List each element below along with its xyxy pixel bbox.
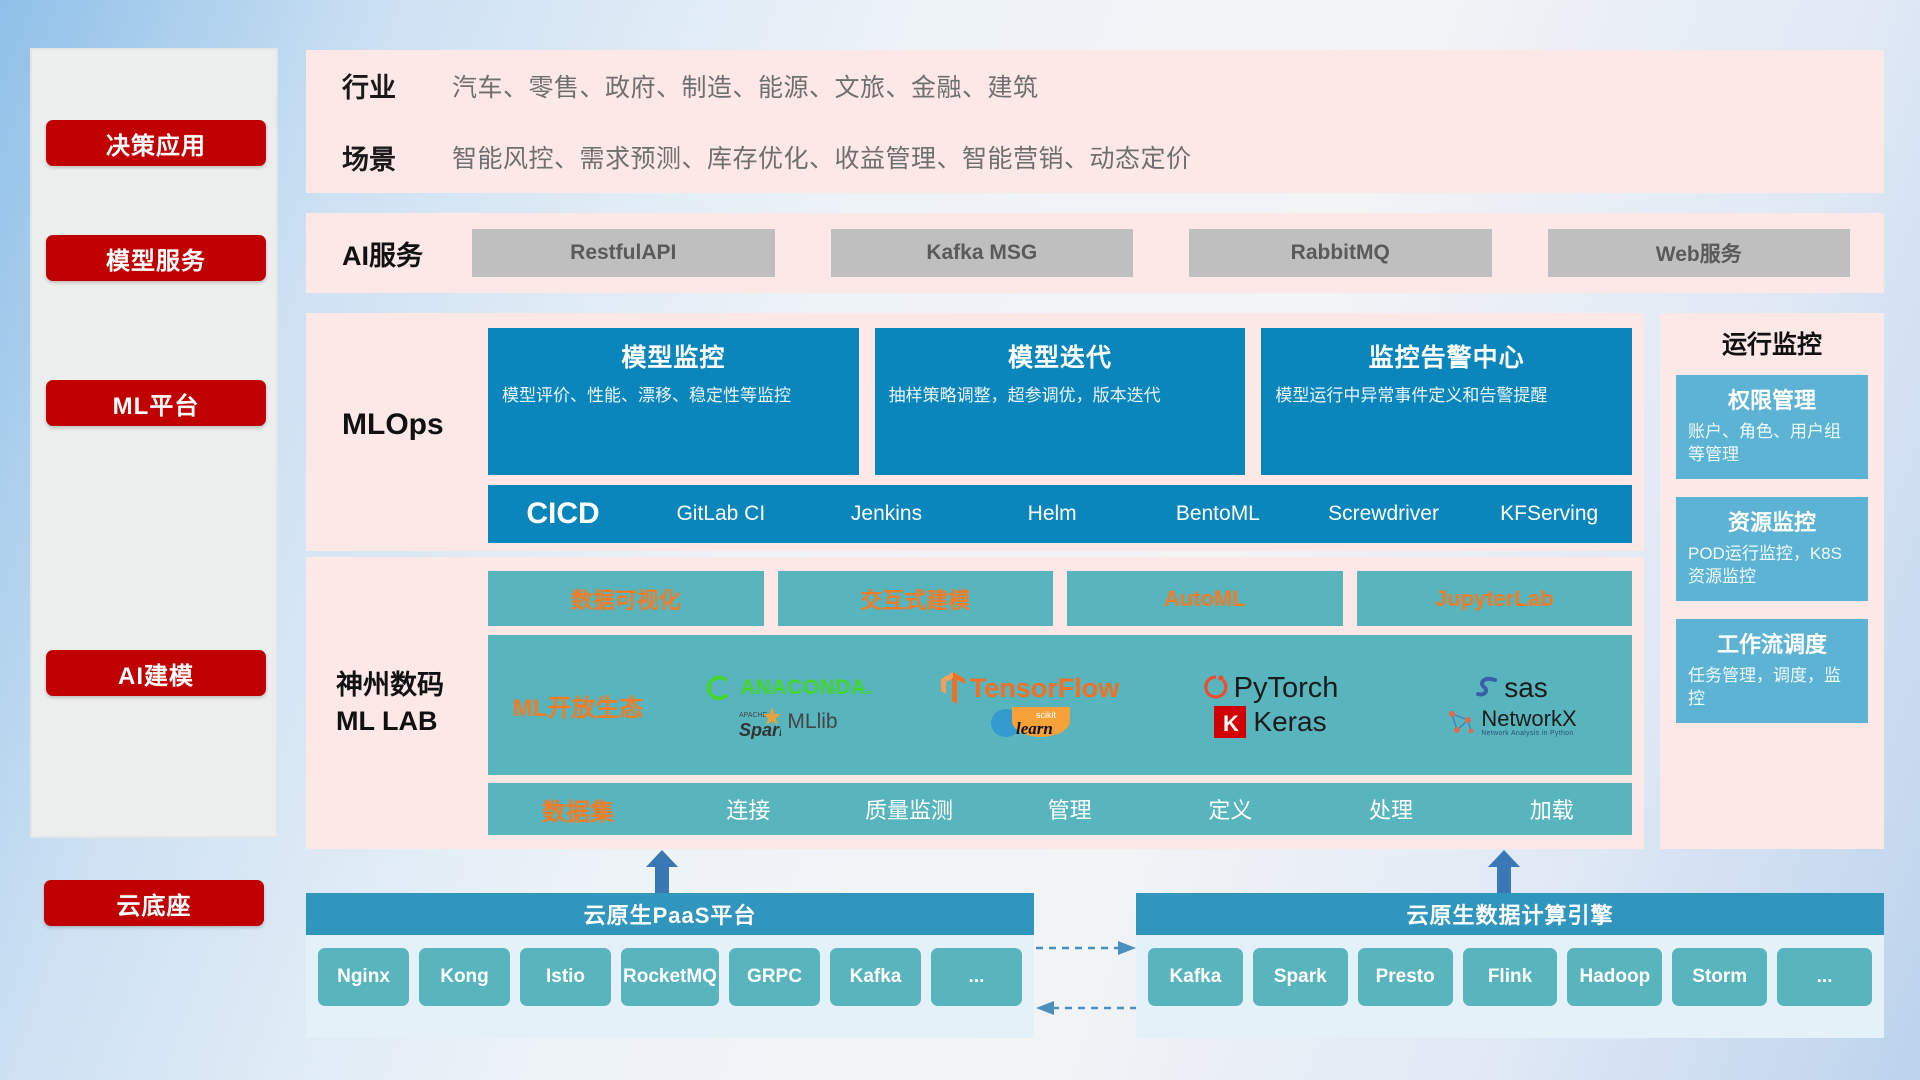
mlops-cards: 模型监控 模型评价、性能、漂移、稳定性等监控 模型迭代 抽样策略调整，超参调优，… xyxy=(488,328,1632,475)
mlops-card-model-monitoring[interactable]: 模型监控 模型评价、性能、漂移、稳定性等监控 xyxy=(488,328,859,475)
sas-icon xyxy=(1475,674,1501,702)
dataset-item-manage[interactable]: 管理 xyxy=(989,793,1150,825)
anaconda-logo: ANACONDA. xyxy=(704,673,873,703)
scikit-learn-logo: scikit learn xyxy=(988,705,1072,739)
ai-service-web[interactable]: Web服务 xyxy=(1548,229,1851,277)
networkx-logo: NetworkX Network Analysis in Python xyxy=(1446,707,1576,737)
anaconda-icon xyxy=(704,673,734,703)
networkx-tagline: Network Analysis in Python xyxy=(1481,730,1576,737)
scenario-row: 场景 智能风控、需求预测、库存优化、收益管理、智能营销、动态定价 xyxy=(306,122,1884,194)
svg-text:APACHE: APACHE xyxy=(739,712,768,719)
card-title: 模型迭代 xyxy=(889,338,1232,374)
industry-scenario-panel: 行业 汽车、零售、政府、制造、能源、文旅、金融、建筑 场景 智能风控、需求预测、… xyxy=(306,50,1884,193)
paas-stack: 云原生PaaS平台 Nginx Kong Istio RocketMQ GRPC… xyxy=(306,893,1034,1038)
tab-interactive-modeling[interactable]: 交互式建模 xyxy=(778,571,1054,626)
card-desc: 抽样策略调整，超参调优，版本迭代 xyxy=(889,384,1232,409)
chip-more-paas[interactable]: ... xyxy=(931,948,1022,1006)
ml-lab-label-line1: 神州数码 xyxy=(336,667,486,703)
ml-ecosystem-row: ML开放生态 ANACONDA. TensorFlow xyxy=(488,635,1632,775)
connector-left xyxy=(1036,1000,1134,1021)
card-desc: 账户、角色、用户组等管理 xyxy=(1688,421,1856,467)
scenario-label: 场景 xyxy=(342,138,452,177)
ai-service-rabbitmq[interactable]: RabbitMQ xyxy=(1189,229,1492,277)
rail-item-model-service[interactable]: 模型服务 xyxy=(46,235,266,281)
rail-item-cloud-base[interactable]: 云底座 xyxy=(44,880,264,926)
dataset-label: 数据集 xyxy=(488,792,668,827)
anaconda-label: ANACONDA. xyxy=(740,676,873,700)
cicd-item-jenkins[interactable]: Jenkins xyxy=(804,503,970,525)
sas-label: sas xyxy=(1504,672,1548,704)
ml-lab-tabs: 数据可视化 交互式建模 AutoML JupyterLab xyxy=(488,571,1632,626)
tab-jupyterlab[interactable]: JupyterLab xyxy=(1357,571,1633,626)
industry-value: 汽车、零售、政府、制造、能源、文旅、金融、建筑 xyxy=(452,68,1039,104)
networkx-label: NetworkX xyxy=(1481,708,1576,730)
industry-row: 行业 汽车、零售、政府、制造、能源、文旅、金融、建筑 xyxy=(306,50,1884,122)
arrow-up-paas xyxy=(644,850,680,896)
cicd-item-helm[interactable]: Helm xyxy=(969,503,1135,525)
mllib-label: MLlib xyxy=(787,710,837,734)
monitor-card-permission[interactable]: 权限管理 账户、角色、用户组等管理 xyxy=(1676,375,1868,479)
tensorflow-label: TensorFlow xyxy=(970,673,1120,704)
card-title: 权限管理 xyxy=(1688,383,1856,415)
card-desc: 模型评价、性能、漂移、稳定性等监控 xyxy=(502,384,845,409)
tensorflow-logo: TensorFlow xyxy=(940,671,1120,705)
chip-kong[interactable]: Kong xyxy=(419,948,510,1006)
spark-icon: APACHE Spark xyxy=(739,705,781,739)
arrow-up-compute xyxy=(1486,850,1522,896)
scikit-learn-icon: scikit learn xyxy=(1010,705,1072,739)
rail-item-ai-modeling[interactable]: AI建模 xyxy=(46,650,266,696)
ai-service-restfulapi[interactable]: RestfulAPI xyxy=(472,229,775,277)
compute-stack: 云原生数据计算引擎 Kafka Spark Presto Flink Hadoo… xyxy=(1136,893,1884,1038)
mlops-card-alert-center[interactable]: 监控告警中心 模型运行中异常事件定义和告警提醒 xyxy=(1261,328,1632,475)
chip-hadoop[interactable]: Hadoop xyxy=(1567,948,1662,1006)
chip-spark[interactable]: Spark xyxy=(1253,948,1348,1006)
dataset-item-load[interactable]: 加载 xyxy=(1471,793,1632,825)
pytorch-label: PyTorch xyxy=(1234,672,1339,705)
diagram-canvas: 决策应用 模型服务 ML平台 AI建模 云底座 行业 汽车、零售、政府、制造、能… xyxy=(0,0,1920,1080)
paas-chips: Nginx Kong Istio RocketMQ GRPC Kafka ... xyxy=(306,935,1034,1019)
chip-flink[interactable]: Flink xyxy=(1463,948,1558,1006)
connector-right xyxy=(1036,940,1134,961)
networkx-icon xyxy=(1446,707,1476,737)
ai-service-label: AI服务 xyxy=(342,234,472,273)
card-title: 资源监控 xyxy=(1688,505,1856,537)
chip-kafka-compute[interactable]: Kafka xyxy=(1148,948,1243,1006)
scenario-value: 智能风控、需求预测、库存优化、收益管理、智能营销、动态定价 xyxy=(452,139,1192,175)
keras-logo: K Keras xyxy=(1214,706,1326,738)
dataset-item-quality-monitor[interactable]: 质量监测 xyxy=(829,793,990,825)
ml-lab-panel: 神州数码 ML LAB 数据可视化 交互式建模 AutoML JupyterLa… xyxy=(306,557,1644,849)
card-title: 监控告警中心 xyxy=(1275,338,1618,374)
dataset-items: 连接 质量监测 管理 定义 处理 加载 xyxy=(668,793,1632,825)
runtime-monitor-title: 运行监控 xyxy=(1660,313,1884,375)
tab-data-visualization[interactable]: 数据可视化 xyxy=(488,571,764,626)
paas-title: 云原生PaaS平台 xyxy=(306,893,1034,935)
cicd-item-screwdriver[interactable]: Screwdriver xyxy=(1301,503,1467,525)
cicd-title: CICD xyxy=(488,497,638,531)
runtime-monitor-panel: 运行监控 权限管理 账户、角色、用户组等管理 资源监控 POD运行监控，K8S资… xyxy=(1660,313,1884,849)
card-title: 工作流调度 xyxy=(1688,627,1856,659)
card-desc: 任务管理，调度，监控 xyxy=(1688,665,1856,711)
spark-mllib-logo: APACHE Spark MLlib xyxy=(739,705,837,739)
sas-logo: sas xyxy=(1475,672,1548,704)
ml-ecosystem-label: ML开放生态 xyxy=(488,688,668,723)
cicd-item-bentoml[interactable]: BentoML xyxy=(1135,503,1301,525)
chip-kafka[interactable]: Kafka xyxy=(830,948,921,1006)
chip-istio[interactable]: Istio xyxy=(520,948,611,1006)
cicd-row: CICD GitLab CI Jenkins Helm BentoML Scre… xyxy=(488,485,1632,543)
compute-title: 云原生数据计算引擎 xyxy=(1136,893,1884,935)
tab-automl[interactable]: AutoML xyxy=(1067,571,1343,626)
svg-text:K: K xyxy=(1223,711,1239,736)
ai-service-kafka-msg[interactable]: Kafka MSG xyxy=(831,229,1134,277)
compute-chips: Kafka Spark Presto Flink Hadoop Storm ..… xyxy=(1136,935,1884,1019)
pytorch-icon xyxy=(1203,673,1229,703)
card-title: 模型监控 xyxy=(502,338,845,374)
mlops-card-model-iteration[interactable]: 模型迭代 抽样策略调整，超参调优，版本迭代 xyxy=(875,328,1246,475)
cicd-item-kfserving[interactable]: KFServing xyxy=(1466,503,1632,525)
keras-icon: K xyxy=(1214,706,1246,738)
chip-grpc[interactable]: GRPC xyxy=(729,948,820,1006)
ml-ecosystem-logos: ANACONDA. TensorFlow PyTorch xyxy=(668,671,1632,739)
card-desc: 模型运行中异常事件定义和告警提醒 xyxy=(1275,384,1618,409)
tensorflow-icon xyxy=(940,671,966,705)
chip-more-compute[interactable]: ... xyxy=(1777,948,1872,1006)
ai-service-panel: AI服务 RestfulAPI Kafka MSG RabbitMQ Web服务 xyxy=(306,213,1884,293)
pytorch-logo: PyTorch xyxy=(1203,672,1339,705)
left-rail: 决策应用 模型服务 ML平台 AI建模 xyxy=(30,48,278,838)
rail-item-ml-platform[interactable]: ML平台 xyxy=(46,380,266,426)
monitor-card-workflow[interactable]: 工作流调度 任务管理，调度，监控 xyxy=(1676,619,1868,723)
dataset-row: 数据集 连接 质量监测 管理 定义 处理 加载 xyxy=(488,783,1632,835)
cicd-item-gitlab-ci[interactable]: GitLab CI xyxy=(638,503,804,525)
chip-rocketmq[interactable]: RocketMQ xyxy=(621,948,719,1006)
chip-presto[interactable]: Presto xyxy=(1358,948,1453,1006)
dataset-item-process[interactable]: 处理 xyxy=(1311,793,1472,825)
keras-label: Keras xyxy=(1253,706,1326,738)
ml-lab-label-line2: ML LAB xyxy=(336,703,486,739)
dataset-item-define[interactable]: 定义 xyxy=(1150,793,1311,825)
mlops-panel: MLOps 模型监控 模型评价、性能、漂移、稳定性等监控 模型迭代 抽样策略调整… xyxy=(306,313,1644,551)
chip-storm[interactable]: Storm xyxy=(1672,948,1767,1006)
ai-service-items: RestfulAPI Kafka MSG RabbitMQ Web服务 xyxy=(472,229,1884,277)
dataset-item-connect[interactable]: 连接 xyxy=(668,793,829,825)
mlops-label: MLOps xyxy=(342,408,444,442)
card-desc: POD运行监控，K8S资源监控 xyxy=(1688,543,1856,589)
industry-label: 行业 xyxy=(342,66,452,105)
ml-lab-label: 神州数码 ML LAB xyxy=(336,667,486,740)
rail-item-decision-app[interactable]: 决策应用 xyxy=(46,120,266,166)
chip-nginx[interactable]: Nginx xyxy=(318,948,409,1006)
monitor-card-resource[interactable]: 资源监控 POD运行监控，K8S资源监控 xyxy=(1676,497,1868,601)
svg-text:learn: learn xyxy=(1016,719,1053,738)
cicd-items: GitLab CI Jenkins Helm BentoML Screwdriv… xyxy=(638,503,1632,525)
